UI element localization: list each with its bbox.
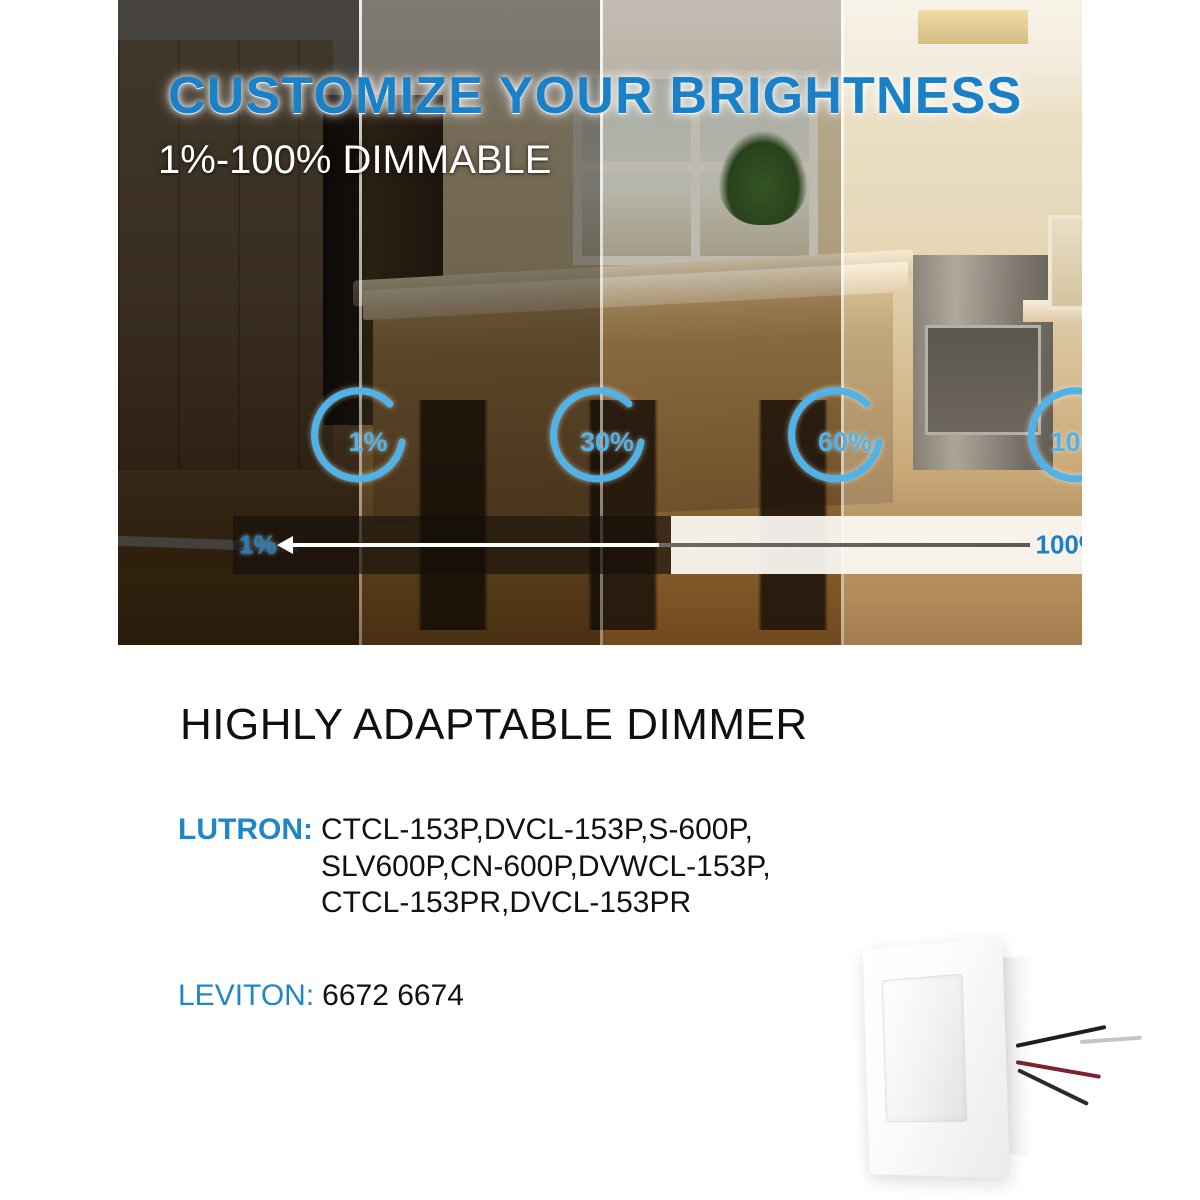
hero-headline: CUSTOMIZE YOUR BRIGHTNESS <box>168 66 1068 126</box>
slider-max-label: 100% <box>1036 530 1083 561</box>
slider-min-label: 1% <box>239 530 277 561</box>
model-line: SLV600P,CN-600P,DVWCL-153P, <box>321 849 771 886</box>
switch-rocker-paddle <box>882 974 968 1123</box>
brand-models-lutron: CTCL-153P,DVCL-153P,S-600P, SLV600P,CN-6… <box>321 812 771 922</box>
model-line: CTCL-153PR,DVCL-153PR <box>321 885 771 922</box>
hero-banner: CUSTOMIZE YOUR BRIGHTNESS 1%-100% DIMMAB… <box>118 0 1082 645</box>
brightness-slider[interactable]: 1% 100% <box>233 516 1082 574</box>
wall-niche-decor <box>1048 215 1082 310</box>
brand-models-leviton: 6672 6674 <box>322 978 464 1015</box>
model-line: 6672 6674 <box>322 978 464 1015</box>
hero-subheadline: 1%-100% DIMMABLE <box>158 138 551 183</box>
brand-compat-leviton: LEVITON: 6672 6674 <box>178 978 464 1015</box>
slider-arrow-head-icon <box>277 536 293 554</box>
product-photo-dimmer-switch <box>828 918 1200 1200</box>
gauge-value-3: 60% <box>793 390 897 494</box>
gauge-value-4: 100% <box>1033 390 1082 494</box>
brand-label-lutron: LUTRON: <box>178 812 313 849</box>
brightness-gauge-3: 60% <box>793 390 897 494</box>
wire-ground <box>1080 1036 1142 1044</box>
brand-compat-lutron: LUTRON: CTCL-153P,DVCL-153P,S-600P, SLV6… <box>178 812 771 922</box>
section-title: HIGHLY ADAPTABLE DIMMER <box>180 700 808 750</box>
gauge-value-1: 1% <box>316 390 420 494</box>
model-line: CTCL-153P,DVCL-153P,S-600P, <box>321 812 771 849</box>
switch-faceplate <box>863 936 1010 1178</box>
brightness-gauge-1: 1% <box>316 390 420 494</box>
plant-decor <box>718 130 808 225</box>
chandelier-decor <box>918 10 1028 44</box>
brand-label-leviton: LEVITON: <box>178 978 314 1015</box>
slider-arrow-line <box>288 543 1030 547</box>
gauge-value-2: 30% <box>555 390 659 494</box>
brightness-gauge-4: 100% <box>1033 390 1082 494</box>
brightness-gauge-2: 30% <box>555 390 659 494</box>
